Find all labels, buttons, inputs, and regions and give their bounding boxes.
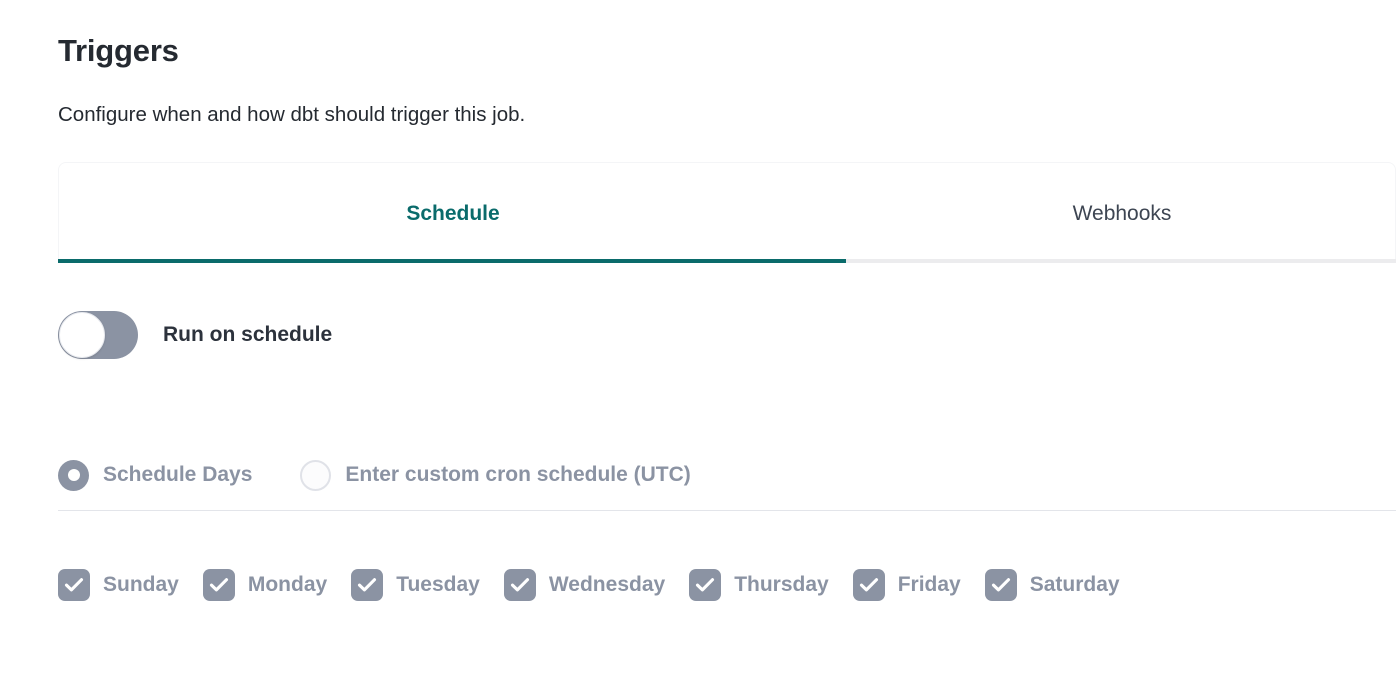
day-label-friday: Friday — [898, 573, 961, 597]
radio-option-custom-cron[interactable]: Enter custom cron schedule (UTC) — [300, 460, 690, 491]
day-checkbox-sunday[interactable]: Sunday — [58, 569, 179, 601]
check-icon — [58, 569, 90, 601]
check-icon — [985, 569, 1017, 601]
day-checkbox-wednesday[interactable]: Wednesday — [504, 569, 665, 601]
radio-label-schedule-days: Schedule Days — [103, 463, 252, 487]
radio-label-custom-cron: Enter custom cron schedule (UTC) — [345, 463, 690, 487]
day-checkbox-saturday[interactable]: Saturday — [985, 569, 1120, 601]
check-icon — [689, 569, 721, 601]
day-label-sunday: Sunday — [103, 573, 179, 597]
tab-active-indicator — [58, 259, 846, 263]
tab-webhooks[interactable]: Webhooks — [847, 163, 1396, 263]
tab-schedule[interactable]: Schedule — [59, 163, 847, 263]
day-checkbox-friday[interactable]: Friday — [853, 569, 961, 601]
run-on-schedule-row: Run on schedule — [58, 311, 332, 359]
check-icon — [853, 569, 885, 601]
day-label-wednesday: Wednesday — [549, 573, 665, 597]
tabs-container: Schedule Webhooks — [58, 162, 1396, 262]
day-label-thursday: Thursday — [734, 573, 829, 597]
day-checkbox-thursday[interactable]: Thursday — [689, 569, 829, 601]
radio-selected-icon — [58, 460, 89, 491]
triggers-page: Triggers Configure when and how dbt shou… — [0, 0, 1396, 680]
run-on-schedule-toggle[interactable] — [58, 311, 138, 359]
schedule-mode-radio-group: Schedule Days Enter custom cron schedule… — [58, 458, 691, 492]
radio-unselected-icon — [300, 460, 331, 491]
day-checkbox-tuesday[interactable]: Tuesday — [351, 569, 480, 601]
run-on-schedule-label: Run on schedule — [163, 323, 332, 347]
schedule-days-row: Sunday Monday Tuesday Wednesday Thursday — [58, 566, 1120, 604]
day-label-tuesday: Tuesday — [396, 573, 480, 597]
day-label-monday: Monday — [248, 573, 327, 597]
section-divider — [58, 510, 1396, 511]
day-label-saturday: Saturday — [1030, 573, 1120, 597]
page-title: Triggers — [58, 33, 179, 69]
check-icon — [504, 569, 536, 601]
check-icon — [203, 569, 235, 601]
check-icon — [351, 569, 383, 601]
page-subtitle: Configure when and how dbt should trigge… — [58, 102, 525, 129]
radio-option-schedule-days[interactable]: Schedule Days — [58, 460, 252, 491]
toggle-knob — [59, 312, 105, 358]
day-checkbox-monday[interactable]: Monday — [203, 569, 327, 601]
